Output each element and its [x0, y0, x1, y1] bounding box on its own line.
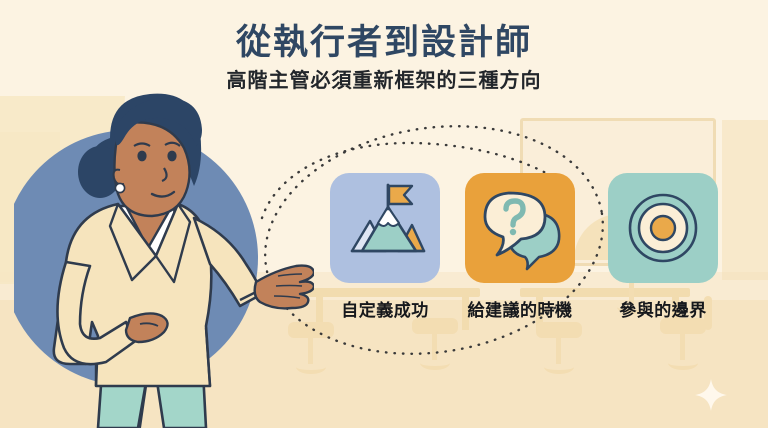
mountain-flag-icon	[330, 173, 440, 283]
earring	[115, 183, 124, 192]
presenting-businesswoman-illustration	[14, 86, 314, 428]
card-label-engagement-boundary[interactable]: 參與的邊界	[588, 296, 738, 321]
page-title: 從執行者到設計師	[0, 22, 768, 63]
slide-canvas: 從執行者到設計師 高階主管必須重新框架的三種方向	[0, 0, 768, 428]
four-point-sparkle-icon	[694, 378, 728, 412]
eye-left	[137, 151, 146, 162]
target-bullseye-icon	[608, 173, 718, 283]
card-label-define-success[interactable]: 自定義成功	[310, 296, 460, 321]
card-advice-timing[interactable]	[465, 173, 575, 283]
background-window-right	[722, 120, 768, 280]
page-subtitle: 高階主管必須重新框架的三種方向	[0, 69, 768, 94]
card-label-advice-timing[interactable]: 給建議的時機	[445, 296, 595, 321]
card-define-success[interactable]	[330, 173, 440, 283]
card-engagement-boundary[interactable]	[608, 173, 718, 283]
eye-right	[167, 151, 176, 162]
question-speech-bubbles-icon	[465, 173, 575, 283]
right-hand	[255, 266, 314, 309]
headline-block: 從執行者到設計師 高階主管必須重新框架的三種方向	[0, 22, 768, 94]
